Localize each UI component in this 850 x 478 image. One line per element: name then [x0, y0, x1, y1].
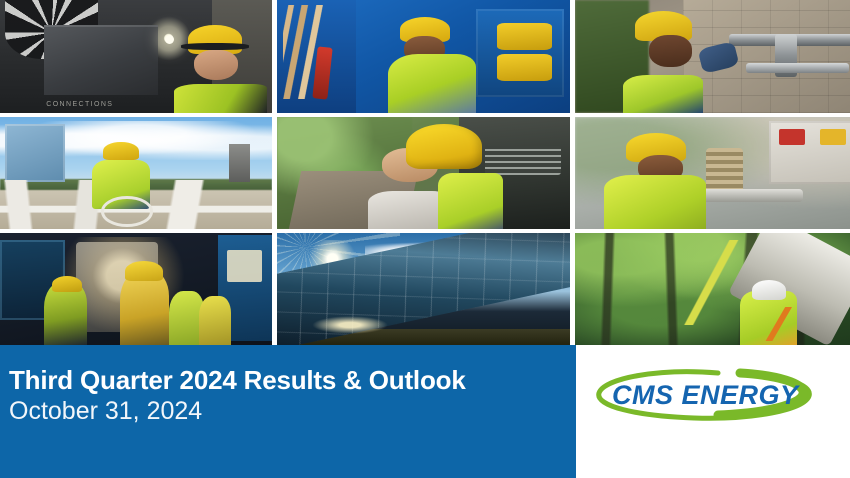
valve-wheel-shape	[101, 196, 153, 227]
photo-tile-plant-worker: CONNECTIONS	[0, 0, 272, 113]
worker-silhouette-shape	[199, 296, 232, 345]
photo-tile-gas-storage-field	[0, 117, 272, 229]
safety-vest-shape	[174, 84, 266, 113]
page-subtitle-date: October 31, 2024	[9, 397, 202, 426]
hard-hat-shape	[752, 280, 786, 300]
photo-tile-gas-meter	[575, 0, 850, 113]
yellow-drum-shape	[497, 23, 553, 50]
harness-strap-shape	[760, 307, 797, 341]
cms-energy-wordmark: CMS ENERGY	[612, 380, 801, 410]
stack-tower-shape	[229, 144, 251, 182]
gas-pipe-shape	[746, 63, 849, 73]
hard-hat-shape	[125, 261, 163, 281]
worker-silhouette-shape	[120, 271, 169, 345]
safety-vest-shape	[604, 175, 707, 229]
photo-tile-service-truck	[277, 0, 570, 113]
presentation-title-slide: CONNECTIONS	[0, 0, 850, 478]
logo-area: CMS ENERGY	[576, 345, 850, 478]
safety-vest-shape	[388, 54, 476, 113]
hard-hat-shape	[103, 142, 138, 160]
photo-tile-forestry-trimming	[575, 233, 850, 345]
photo-tile-worker-hugging-child	[277, 117, 570, 229]
cms-energy-logo: CMS ENERGY	[590, 367, 820, 429]
hard-hat-shape	[406, 124, 482, 169]
hard-hat-shape	[52, 276, 82, 293]
page-title: Third Quarter 2024 Results & Outlook	[9, 365, 466, 396]
photo-mosaic: CONNECTIONS	[0, 0, 850, 343]
title-banner: Third Quarter 2024 Results & Outlook Oct…	[0, 345, 576, 478]
truck-grille-shape	[485, 146, 561, 175]
safety-vest-shape	[623, 75, 703, 113]
machine-housing-shape	[44, 25, 158, 95]
photo-tile-solar-array	[277, 233, 570, 345]
photo-tile-transformer-lineworker	[575, 117, 850, 229]
equipment-cabinet-shape	[769, 121, 850, 184]
panel-glint-shape	[312, 316, 388, 334]
headlamp-icon	[165, 35, 174, 44]
worker-face-shape	[649, 35, 692, 67]
worker-face-shape	[194, 50, 238, 81]
photo-tile-night-staging	[0, 233, 272, 345]
machine-label-text: CONNECTIONS	[46, 101, 113, 108]
yellow-drum-shape	[497, 54, 553, 81]
blue-rig-shape	[5, 124, 65, 182]
cms-energy-logo-icon: CMS ENERGY	[590, 367, 820, 429]
safety-vest-shape	[438, 173, 502, 229]
